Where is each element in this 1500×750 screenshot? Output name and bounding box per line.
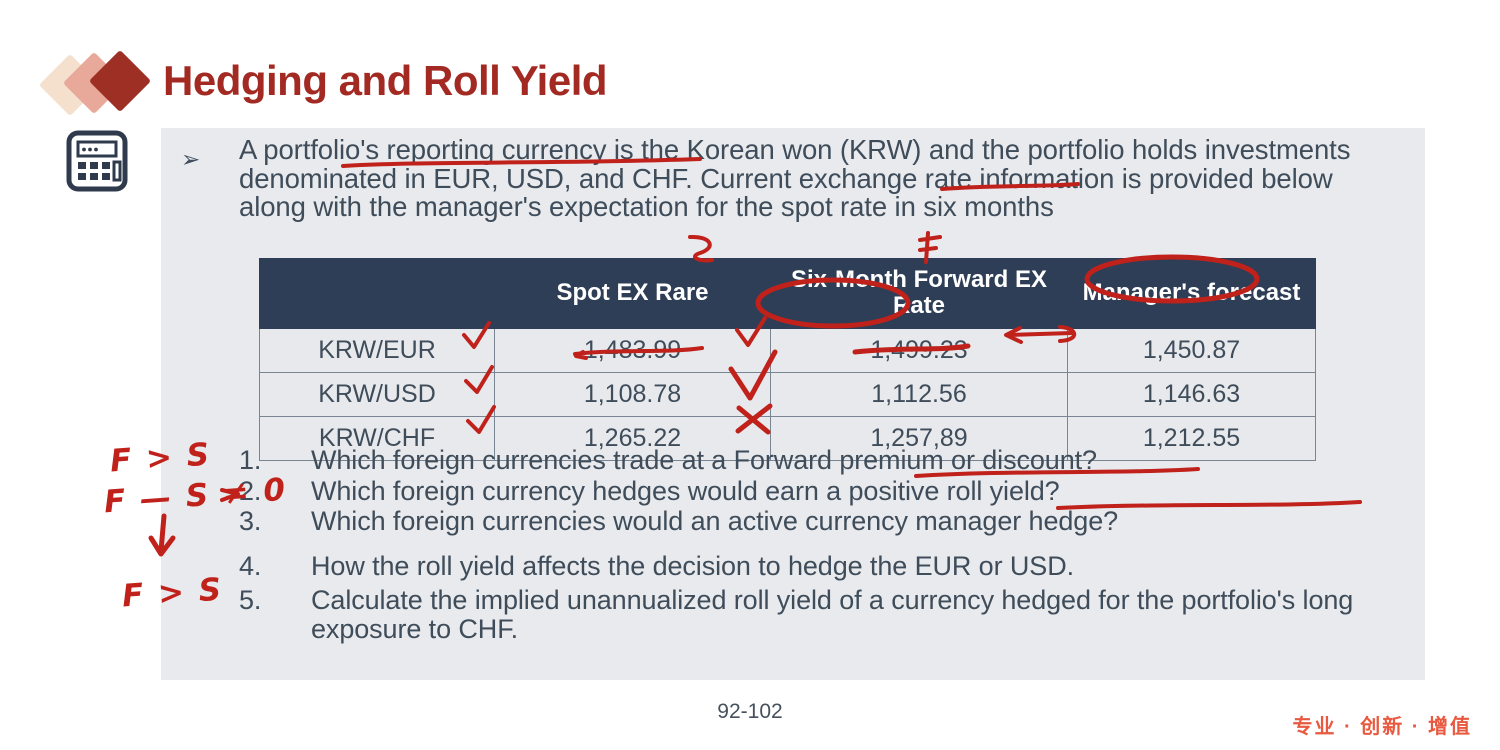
table-row: KRW/EUR 1,483.99 1,499.23 1,450.87 [260, 328, 1316, 372]
margin-note-f-gt-s-2: F > S [121, 572, 224, 615]
cell-forecast: 1,450.87 [1068, 328, 1316, 372]
cell-spot: 1,108.78 [495, 372, 771, 416]
question-text: Calculate the implied unannualized roll … [311, 586, 1424, 643]
table-header-row: Spot EX Rare Six-Month Forward EX Rate M… [260, 259, 1316, 329]
diamonds-logo [48, 56, 160, 114]
question-text: Which foreign currencies would an active… [311, 507, 1424, 536]
brand-slogan: 专业 · 创新 · 增值 [1292, 710, 1472, 739]
question-number: 4. [239, 552, 311, 581]
col-header-spot: Spot EX Rare [495, 259, 771, 329]
cell-forward: 1,499.23 [771, 328, 1068, 372]
page-number: 92-102 [0, 700, 1500, 724]
calculator-icon [66, 130, 128, 192]
question-number: 3. [239, 507, 311, 536]
col-header-forecast: Manager's forecast [1068, 259, 1316, 329]
col-header-forward: Six-Month Forward EX Rate [771, 259, 1068, 329]
cell-forward: 1,112.56 [771, 372, 1068, 416]
questions-list: 1. Which foreign currencies trade at a F… [239, 446, 1424, 646]
question-text: How the roll yield affects the decision … [311, 552, 1424, 581]
question-text: Which foreign currencies trade at a Forw… [311, 446, 1424, 475]
fx-rates-table: Spot EX Rare Six-Month Forward EX Rate M… [259, 258, 1316, 461]
question-item: 5. Calculate the implied unannualized ro… [239, 586, 1424, 643]
content-panel: ➢ A portfolio's reporting currency is th… [161, 128, 1425, 680]
question-item: 4. How the roll yield affects the decisi… [239, 552, 1424, 581]
question-item: 2. Which foreign currency hedges would e… [239, 477, 1424, 506]
cell-pair: KRW/USD [260, 372, 495, 416]
question-item: 3. Which foreign currencies would an act… [239, 507, 1424, 536]
bullet-block: ➢ A portfolio's reporting currency is th… [181, 136, 1371, 222]
margin-note-f-gt-s-1: F > S [109, 437, 212, 480]
question-number: 5. [239, 586, 311, 643]
bullet-text: A portfolio's reporting currency is the … [239, 136, 1371, 222]
cell-spot: 1,483.99 [495, 328, 771, 372]
bullet-arrow-icon: ➢ [181, 148, 200, 171]
question-number: 1. [239, 446, 311, 475]
question-text: Which foreign currency hedges would earn… [311, 477, 1424, 506]
slide-canvas: Hedging and Roll Yield ➢ A portfolio's r… [0, 0, 1500, 750]
cell-pair: KRW/EUR [260, 328, 495, 372]
question-item: 1. Which foreign currencies trade at a F… [239, 446, 1424, 475]
col-header-pair [260, 259, 495, 329]
page-title: Hedging and Roll Yield [163, 57, 607, 105]
table-row: KRW/USD 1,108.78 1,112.56 1,146.63 [260, 372, 1316, 416]
cell-forecast: 1,146.63 [1068, 372, 1316, 416]
